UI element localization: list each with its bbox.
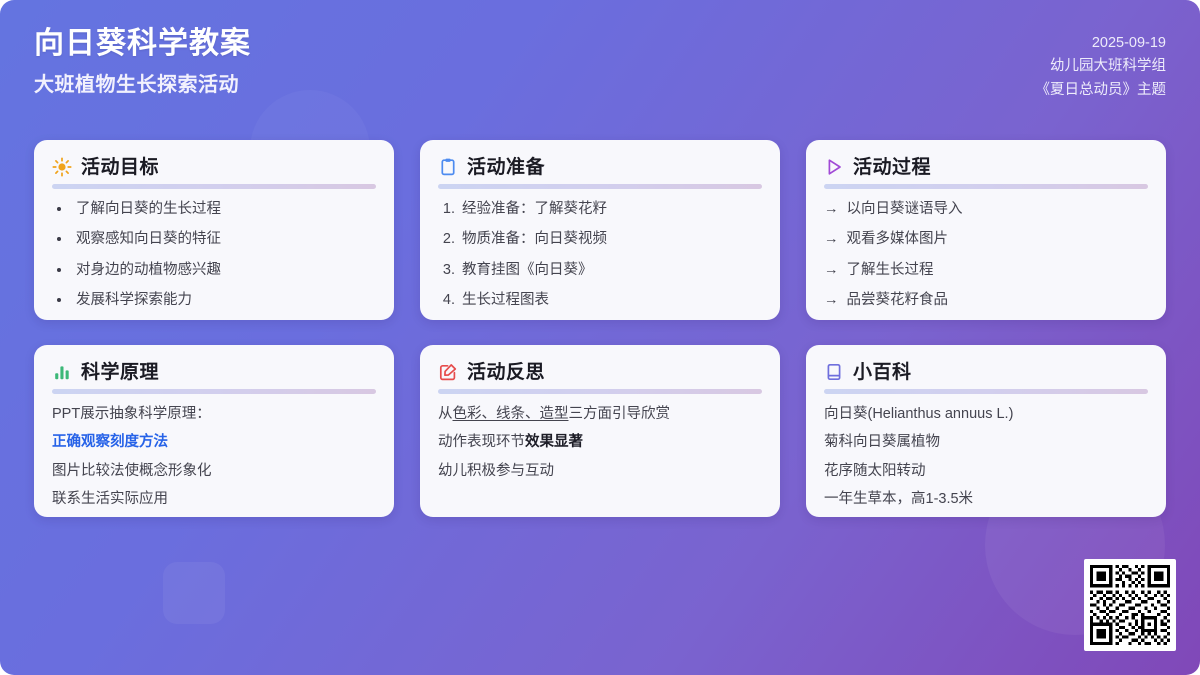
sun-icon <box>52 157 72 177</box>
line-emphasis-underline: 色彩、线条、造型 <box>453 406 569 422</box>
poster-header: 向日葵科学教案 大班植物生长探索活动 2025-09-19 幼儿园大班科学组 《… <box>0 0 1200 130</box>
card-header: 科学原理 <box>52 362 376 382</box>
card-body: 了解向日葵的生长过程 观察感知向日葵的特征 对身边的动植物感兴趣 发展科学探索能… <box>52 201 376 306</box>
list-item: PPT展示抽象科学原理： <box>52 406 376 423</box>
card-title: 科学原理 <box>81 363 159 382</box>
list-item: 动作表现环节效果显著 <box>438 434 762 451</box>
card-title: 小百科 <box>853 363 912 382</box>
card-body: → 以向日葵谜语导入 → 观看多媒体图片 → 了解生长过程 → 品尝葵花籽食品 <box>824 201 1148 306</box>
edit-square-icon <box>438 362 458 382</box>
decorative-square-left <box>163 562 225 624</box>
header-organization: 幼儿园大班科学组 <box>1036 55 1167 78</box>
poster-canvas: 向日葵科学教案 大班植物生长探索活动 2025-09-19 幼儿园大班科学组 《… <box>0 0 1200 675</box>
preparation-list: 经验准备：了解葵花籽 物质准备：向日葵视频 教育挂图《向日葵》 生长过程图表 <box>438 201 762 310</box>
card-title: 活动目标 <box>81 158 159 177</box>
card-body: PPT展示抽象科学原理： 正确观察刻度方法 图片比较法使概念形象化 联系生活实际… <box>52 406 376 503</box>
header-left-block: 向日葵科学教案 大班植物生长探索活动 <box>34 26 251 97</box>
list-item: 经验准备：了解葵花籽 <box>459 201 762 218</box>
line-prefix: 动作表现环节 <box>438 434 525 450</box>
goals-list: 了解向日葵的生长过程 观察感知向日葵的特征 对身边的动植物感兴趣 发展科学探索能… <box>52 201 376 310</box>
card-header: 活动准备 <box>438 157 762 177</box>
header-theme: 《夏日总动员》主题 <box>1036 79 1167 102</box>
card-grid: 活动目标 了解向日葵的生长过程 观察感知向日葵的特征 对身边的动植物感兴趣 发展… <box>34 140 1166 517</box>
qr-code-image <box>1090 565 1170 645</box>
card-title: 活动准备 <box>467 158 545 177</box>
encyclopedia-list: 向日葵(Helianthus annuus L.) 菊科向日葵属植物 花序随太阳… <box>824 406 1148 509</box>
list-item: → 观看多媒体图片 <box>824 231 1148 248</box>
card-body: 向日葵(Helianthus annuus L.) 菊科向日葵属植物 花序随太阳… <box>824 406 1148 503</box>
line-prefix: 从 <box>438 406 453 422</box>
card-preparation[interactable]: 活动准备 经验准备：了解葵花籽 物质准备：向日葵视频 教育挂图《向日葵》 生长过… <box>420 140 780 320</box>
line-suffix: 三方面引导欣赏 <box>569 406 671 422</box>
list-item: 图片比较法使概念形象化 <box>52 463 376 480</box>
card-header: 活动目标 <box>52 157 376 177</box>
card-divider <box>52 389 376 394</box>
card-header: 小百科 <box>824 362 1148 382</box>
list-item: → 品尝葵花籽食品 <box>824 292 1148 309</box>
card-header: 活动反思 <box>438 362 762 382</box>
list-item: 从色彩、线条、造型三方面引导欣赏 <box>438 406 762 423</box>
list-item: 向日葵(Helianthus annuus L.) <box>824 406 1148 423</box>
list-item: 发展科学探索能力 <box>72 292 376 309</box>
card-divider <box>824 389 1148 394</box>
process-list: → 以向日葵谜语导入 → 观看多媒体图片 → 了解生长过程 → 品尝葵花籽食品 <box>824 201 1148 310</box>
card-header: 活动过程 <box>824 157 1148 177</box>
list-item: 一年生草本，高1-3.5米 <box>824 491 1148 508</box>
card-divider <box>438 184 762 189</box>
header-date: 2025-09-19 <box>1036 32 1167 55</box>
list-item: 了解向日葵的生长过程 <box>72 201 376 218</box>
list-item: → 了解生长过程 <box>824 262 1148 279</box>
arrow-icon: → <box>824 231 839 248</box>
clipboard-icon <box>438 157 458 177</box>
qr-code[interactable] <box>1084 559 1176 651</box>
page-subtitle: 大班植物生长探索活动 <box>34 73 251 97</box>
list-item: 生长过程图表 <box>459 292 762 309</box>
list-item-label: 以向日葵谜语导入 <box>847 201 963 218</box>
card-encyclopedia[interactable]: 小百科 向日葵(Helianthus annuus L.) 菊科向日葵属植物 花… <box>806 345 1166 517</box>
line-emphasis-bold: 效果显著 <box>525 434 583 450</box>
science-principle-list: PPT展示抽象科学原理： 正确观察刻度方法 图片比较法使概念形象化 联系生活实际… <box>52 406 376 509</box>
card-body: 从色彩、线条、造型三方面引导欣赏 动作表现环节效果显著 幼儿积极参与互动 <box>438 406 762 503</box>
play-triangle-icon <box>824 157 844 177</box>
arrow-icon: → <box>824 262 839 279</box>
card-reflection[interactable]: 活动反思 从色彩、线条、造型三方面引导欣赏 动作表现环节效果显著 幼儿积极参与互… <box>420 345 780 517</box>
book-icon <box>824 362 844 382</box>
header-meta-block: 2025-09-19 幼儿园大班科学组 《夏日总动员》主题 <box>1036 26 1167 102</box>
card-process[interactable]: 活动过程 → 以向日葵谜语导入 → 观看多媒体图片 → 了解生长过程 <box>806 140 1166 320</box>
card-body: 经验准备：了解葵花籽 物质准备：向日葵视频 教育挂图《向日葵》 生长过程图表 <box>438 201 762 306</box>
arrow-icon: → <box>824 292 839 309</box>
list-item-label: 了解生长过程 <box>847 262 934 279</box>
list-item: 幼儿积极参与互动 <box>438 463 762 480</box>
line-prefix: 幼儿积极参与互动 <box>438 463 554 479</box>
page-title: 向日葵科学教案 <box>34 26 251 62</box>
card-divider <box>438 389 762 394</box>
list-item: 观察感知向日葵的特征 <box>72 231 376 248</box>
list-item: 菊科向日葵属植物 <box>824 434 1148 451</box>
reflection-list: 从色彩、线条、造型三方面引导欣赏 动作表现环节效果显著 幼儿积极参与互动 <box>438 406 762 480</box>
list-item: 花序随太阳转动 <box>824 463 1148 480</box>
card-divider <box>52 184 376 189</box>
card-title: 活动过程 <box>853 158 931 177</box>
list-item-label: 品尝葵花籽食品 <box>847 292 949 309</box>
list-item: 教育挂图《向日葵》 <box>459 262 762 279</box>
card-divider <box>824 184 1148 189</box>
list-item: 物质准备：向日葵视频 <box>459 231 762 248</box>
card-science-principle[interactable]: 科学原理 PPT展示抽象科学原理： 正确观察刻度方法 图片比较法使概念形象化 联… <box>34 345 394 517</box>
list-item-label: 观看多媒体图片 <box>847 231 949 248</box>
list-item: 联系生活实际应用 <box>52 491 376 508</box>
list-item: 对身边的动植物感兴趣 <box>72 262 376 279</box>
list-item-highlighted: 正确观察刻度方法 <box>52 434 376 451</box>
card-goals[interactable]: 活动目标 了解向日葵的生长过程 观察感知向日葵的特征 对身边的动植物感兴趣 发展… <box>34 140 394 320</box>
arrow-icon: → <box>824 201 839 218</box>
bar-chart-icon <box>52 362 72 382</box>
card-title: 活动反思 <box>467 363 545 382</box>
list-item: → 以向日葵谜语导入 <box>824 201 1148 218</box>
